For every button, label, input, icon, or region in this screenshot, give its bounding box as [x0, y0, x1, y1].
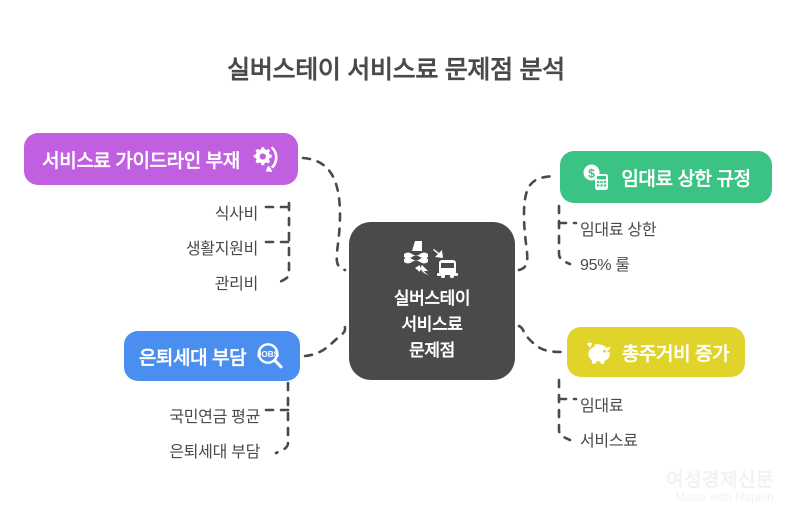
center-node-label-line-0: 실버스테이	[394, 288, 470, 310]
branch-node-rentcap-label: 임대료 상한 규정	[621, 164, 750, 191]
center-node[interactable]: 실버스테이 서비스료 문제점	[349, 222, 515, 380]
edge-center-to-rentcap	[519, 176, 556, 270]
leaf-housing-0: 임대료	[580, 392, 623, 416]
edge-guideline-to-center	[303, 158, 345, 270]
gear-hand-icon	[250, 144, 280, 174]
leaf-guideline-2: 관리비	[118, 270, 258, 294]
branch-node-retire[interactable]: 은퇴세대 부담 JOBS	[124, 331, 300, 381]
money-calculator-icon: $	[581, 162, 611, 192]
watermark-brand: 여성경제신문	[666, 471, 774, 492]
branch-node-rentcap[interactable]: $ 임대료 상한 규정	[560, 151, 772, 203]
edge-retire-leaf-spine	[276, 383, 288, 453]
page-title: 실버스테이 서비스료 문제점 분석	[0, 50, 792, 86]
center-node-label-line-2: 문제점	[409, 340, 455, 362]
watermark-made-with: Made with Napkin	[666, 490, 774, 504]
jobs-search-icon: JOBS	[255, 341, 285, 371]
edge-rentcap-leaf-spine	[559, 206, 570, 264]
piggy-bank-icon	[583, 339, 613, 365]
svg-text:$: $	[588, 166, 595, 180]
edge-center-to-housing	[519, 326, 563, 352]
leaf-retire-0: 국민연금 평균	[100, 403, 260, 427]
leaf-housing-1: 서비스료	[580, 427, 638, 451]
edge-retire-to-center	[305, 326, 345, 356]
watermark: 여성경제신문 Made with Napkin	[666, 471, 774, 504]
leaf-retire-1: 은퇴세대 부담	[100, 438, 260, 462]
edge-housing-leaf-spine	[559, 380, 570, 440]
edge-guideline-leaf-spine	[277, 203, 289, 283]
leaf-rentcap-1: 95% 룰	[580, 251, 630, 275]
center-node-label-line-1: 서비스료	[402, 314, 463, 336]
branch-node-housing-label: 총주거비 증가	[622, 339, 729, 366]
diagram-canvas: 실버스테이 서비스료 문제점 분석	[0, 0, 792, 516]
waves-bus-icon	[403, 240, 461, 280]
leaf-guideline-1: 생활지원비	[118, 235, 258, 259]
branch-node-housing[interactable]: 총주거비 증가	[567, 327, 745, 377]
branch-node-guideline[interactable]: 서비스료 가이드라인 부재	[24, 133, 298, 185]
leaf-rentcap-0: 임대료 상한	[580, 216, 656, 240]
branch-node-guideline-label: 서비스료 가이드라인 부재	[42, 146, 240, 173]
svg-text:JOBS: JOBS	[257, 350, 280, 359]
leaf-guideline-0: 식사비	[118, 200, 258, 224]
branch-node-retire-label: 은퇴세대 부담	[139, 343, 246, 370]
